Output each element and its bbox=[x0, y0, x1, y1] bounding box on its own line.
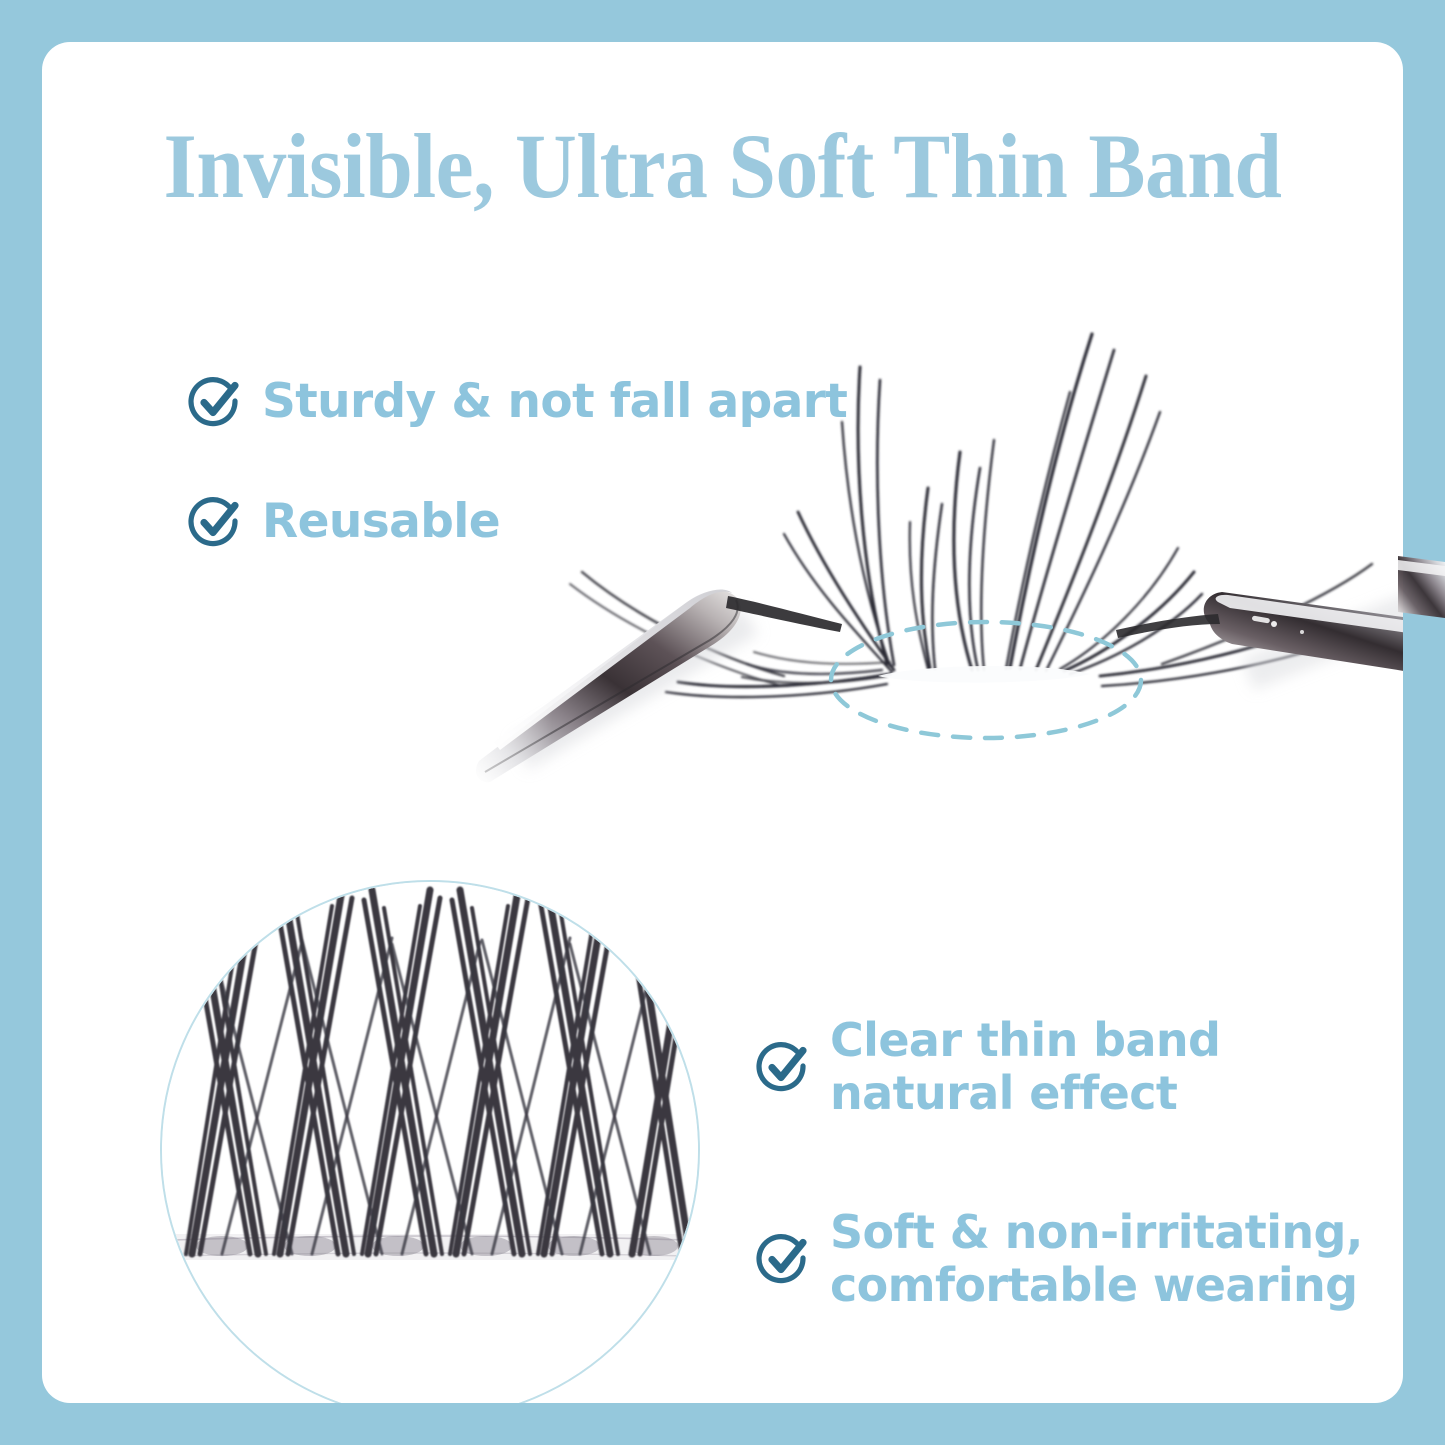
feature-item-clear-thin-band: Clear thin band natural effect bbox=[756, 1014, 1220, 1121]
feature-label: Sturdy & not fall apart bbox=[262, 375, 847, 430]
hero-lash-photo bbox=[42, 272, 1403, 832]
feature-label: Clear thin band natural effect bbox=[830, 1014, 1220, 1121]
check-circle-icon bbox=[188, 374, 244, 430]
feature-item-sturdy: Sturdy & not fall apart bbox=[188, 374, 847, 430]
dashed-ellipse-highlight bbox=[831, 622, 1141, 738]
check-circle-icon bbox=[188, 494, 244, 550]
feature-item-reusable: Reusable bbox=[188, 494, 500, 550]
page-title: Invisible, Ultra Soft Thin Band bbox=[90, 120, 1356, 212]
check-circle-icon bbox=[756, 1039, 812, 1095]
magnified-lash-band-inset bbox=[160, 880, 700, 1403]
white-content-panel: Invisible, Ultra Soft Thin Band bbox=[42, 42, 1403, 1403]
feature-label: Reusable bbox=[262, 495, 500, 550]
feature-item-soft-non-irritating: Soft & non-irritating, comfortable weari… bbox=[756, 1206, 1363, 1313]
feature-label: Soft & non-irritating, comfortable weari… bbox=[830, 1206, 1363, 1313]
check-circle-icon bbox=[756, 1231, 812, 1287]
product-infographic-poster: Invisible, Ultra Soft Thin Band bbox=[0, 0, 1445, 1445]
